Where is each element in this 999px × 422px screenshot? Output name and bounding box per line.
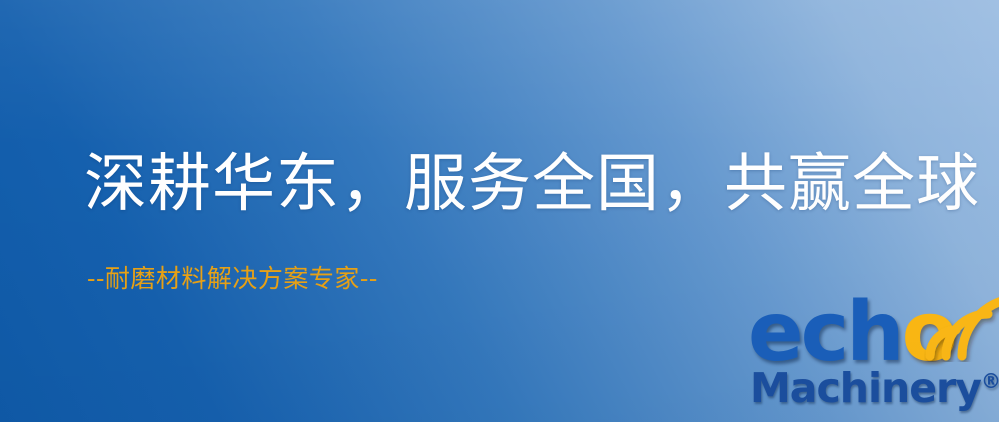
registered-trademark-icon: ®: [981, 369, 999, 393]
signal-arcs-icon: [924, 290, 999, 362]
echo-machinery-logo: echo Machinery®: [748, 292, 999, 422]
banner-headline: 深耕华东，服务全国，共赢全球: [84, 152, 980, 215]
logo-tagline: Machinery®: [750, 368, 999, 409]
logo-tagline-text: Machinery: [750, 364, 981, 412]
promo-banner: 深耕华东，服务全国，共赢全球 --耐磨材料解决方案专家-- echo Machi…: [0, 0, 999, 422]
banner-subtitle: --耐磨材料解决方案专家--: [87, 266, 378, 291]
